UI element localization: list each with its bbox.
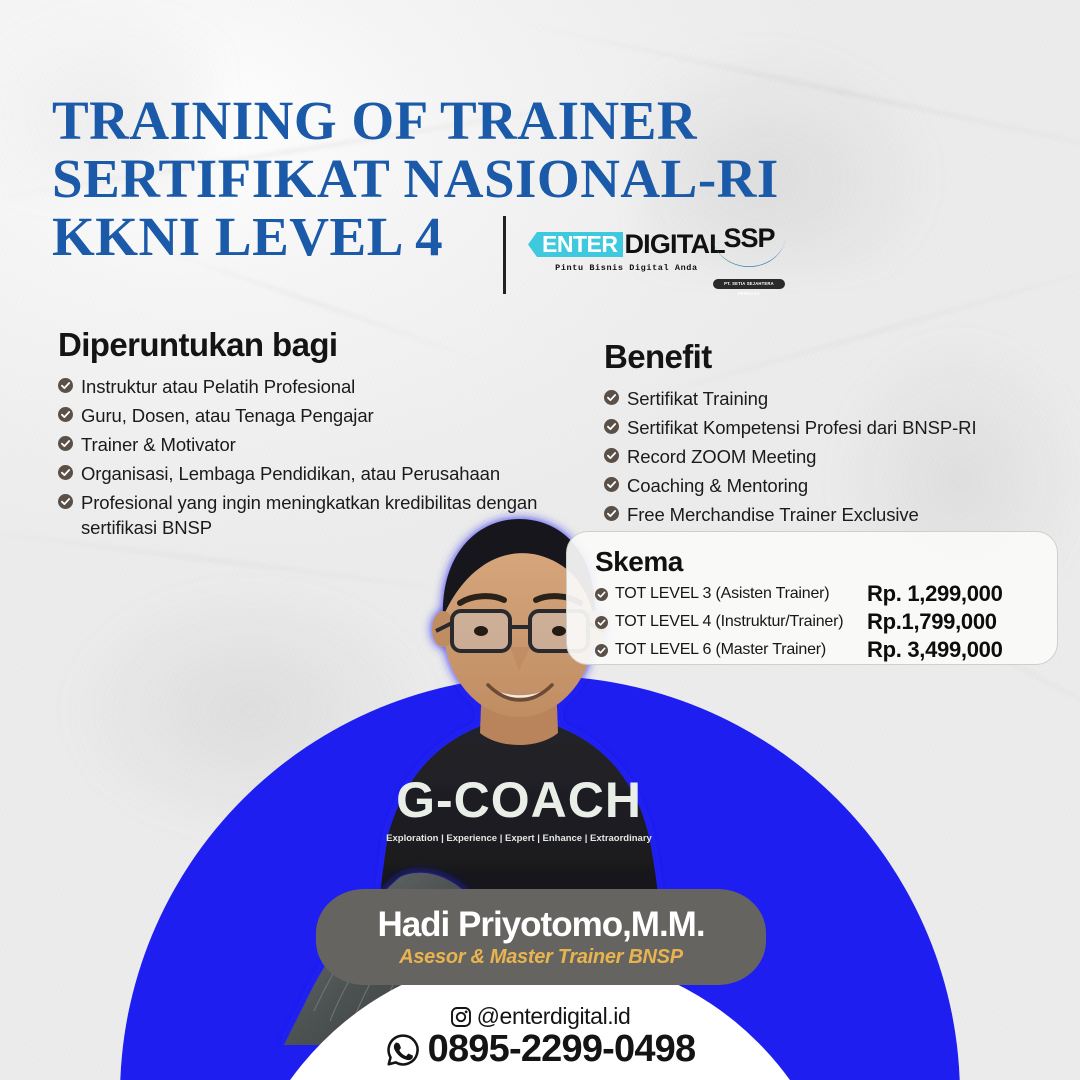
skema-box: Skema TOT LEVEL 3 (Asisten Trainer) Rp. … — [566, 531, 1058, 665]
whatsapp-icon[interactable] — [385, 1032, 421, 1068]
skema-level-label: TOT LEVEL 3 (Asisten Trainer) — [615, 585, 829, 603]
list-item: Record ZOOM Meeting — [604, 444, 1054, 469]
check-circle-icon — [604, 448, 619, 463]
headline-line-2: SERTIFIKAT NASIONAL-RI — [52, 150, 912, 208]
instagram-handle[interactable]: @enterdigital.id — [477, 1003, 631, 1030]
presenter-name-banner: Hadi Priyotomo,M.M. Asesor & Master Trai… — [316, 889, 766, 985]
skema-label-wrap: TOT LEVEL 4 (Instruktur/Trainer) — [595, 613, 867, 631]
list-item: Coaching & Mentoring — [604, 473, 1054, 498]
check-circle-icon — [604, 477, 619, 492]
ssp-company-banner: PT. SETIA SEJAHTERA PERKASA — [713, 279, 785, 289]
list-item-label: Record ZOOM Meeting — [627, 444, 816, 469]
benefit-list: Sertifikat Training Sertifikat Kompetens… — [604, 386, 1054, 527]
list-item-label: Profesional yang ingin meningkatkan kred… — [81, 490, 578, 540]
ssp-wordmark: SSP — [707, 223, 791, 254]
contact-block: @enterdigital.id 0895-2299-0498 — [0, 1003, 1080, 1071]
instagram-row[interactable]: @enterdigital.id — [0, 1003, 1080, 1030]
list-item: Trainer & Motivator — [58, 432, 578, 457]
check-circle-icon — [604, 419, 619, 434]
audience-list: Instruktur atau Pelatih Profesional Guru… — [58, 374, 578, 540]
presenter-name: Hadi Priyotomo,M.M. — [316, 907, 766, 943]
skema-level-label: TOT LEVEL 4 (Instruktur/Trainer) — [615, 613, 843, 631]
check-circle-icon — [595, 588, 608, 601]
list-item: Organisasi, Lembaga Pendidikan, atau Per… — [58, 461, 578, 486]
skema-title: Skema — [595, 546, 1039, 578]
check-circle-icon — [595, 616, 608, 629]
shirt-tagline-text: Exploration | Experience | Expert | Enha… — [386, 833, 652, 844]
shirt-logo-text: G-COACH — [396, 772, 642, 828]
benefit-title: Benefit — [604, 338, 1054, 376]
skema-label-wrap: TOT LEVEL 3 (Asisten Trainer) — [595, 585, 867, 603]
check-circle-icon — [604, 390, 619, 405]
list-item-label: Sertifikat Training — [627, 386, 768, 411]
whatsapp-number[interactable]: 0895-2299-0498 — [428, 1028, 696, 1071]
enter-digital-wordmark: ENTER DIGITAL — [528, 231, 725, 258]
whatsapp-row[interactable]: 0895-2299-0498 — [0, 1028, 1080, 1071]
headline-line-1: TRAINING OF TRAINER — [52, 92, 912, 150]
poster-canvas: TRAINING OF TRAINER SERTIFIKAT NASIONAL-… — [0, 0, 1080, 1080]
list-item-label: Free Merchandise Trainer Exclusive — [627, 502, 919, 527]
ssp-logo: SSP PT. SETIA SEJAHTERA PERKASA — [707, 222, 791, 290]
check-circle-icon — [58, 378, 73, 393]
list-item-label: Trainer & Motivator — [81, 432, 236, 457]
list-item-label: Instruktur atau Pelatih Profesional — [81, 374, 355, 399]
check-circle-icon — [58, 494, 73, 509]
enter-digital-tagline: Pintu Bisnis Digital Anda — [528, 263, 725, 273]
list-item-label: Sertifikat Kompetensi Profesi dari BNSP-… — [627, 415, 977, 440]
check-circle-icon — [604, 506, 619, 521]
presenter-subtitle: Asesor & Master Trainer BNSP — [316, 945, 766, 969]
skema-price: Rp.1,799,000 — [867, 609, 997, 635]
check-circle-icon — [58, 407, 73, 422]
logo-divider — [503, 216, 506, 294]
list-item: Guru, Dosen, atau Tenaga Pengajar — [58, 403, 578, 428]
check-circle-icon — [58, 465, 73, 480]
skema-row: TOT LEVEL 4 (Instruktur/Trainer) Rp.1,79… — [595, 609, 1039, 635]
skema-price: Rp. 1,299,000 — [867, 581, 1003, 607]
benefit-section: Benefit Sertifikat Training Sertifikat K… — [604, 338, 1054, 531]
list-item: Instruktur atau Pelatih Profesional — [58, 374, 578, 399]
list-item-label: Organisasi, Lembaga Pendidikan, atau Per… — [81, 461, 500, 486]
skema-price: Rp. 3,499,000 — [867, 637, 1003, 663]
list-item: Sertifikat Training — [604, 386, 1054, 411]
list-item: Profesional yang ingin meningkatkan kred… — [58, 490, 578, 540]
check-circle-icon — [58, 436, 73, 451]
list-item-label: Guru, Dosen, atau Tenaga Pengajar — [81, 403, 374, 428]
audience-section: Diperuntukan bagi Instruktur atau Pelati… — [58, 326, 578, 544]
enter-digital-logo: ENTER DIGITAL Pintu Bisnis Digital Anda — [528, 231, 725, 273]
skema-label-wrap: TOT LEVEL 6 (Master Trainer) — [595, 641, 867, 659]
skema-level-label: TOT LEVEL 6 (Master Trainer) — [615, 641, 826, 659]
audience-title: Diperuntukan bagi — [58, 326, 578, 364]
skema-row: TOT LEVEL 3 (Asisten Trainer) Rp. 1,299,… — [595, 581, 1039, 607]
check-circle-icon — [595, 644, 608, 657]
instagram-icon[interactable] — [450, 1006, 472, 1028]
list-item-label: Coaching & Mentoring — [627, 473, 808, 498]
enter-digital-enter-text: ENTER — [528, 232, 623, 257]
list-item: Free Merchandise Trainer Exclusive — [604, 502, 1054, 527]
shirt-print: G-COACH Exploration | Experience | Exper… — [386, 772, 652, 844]
list-item: Sertifikat Kompetensi Profesi dari BNSP-… — [604, 415, 1054, 440]
skema-row: TOT LEVEL 6 (Master Trainer) Rp. 3,499,0… — [595, 637, 1039, 663]
